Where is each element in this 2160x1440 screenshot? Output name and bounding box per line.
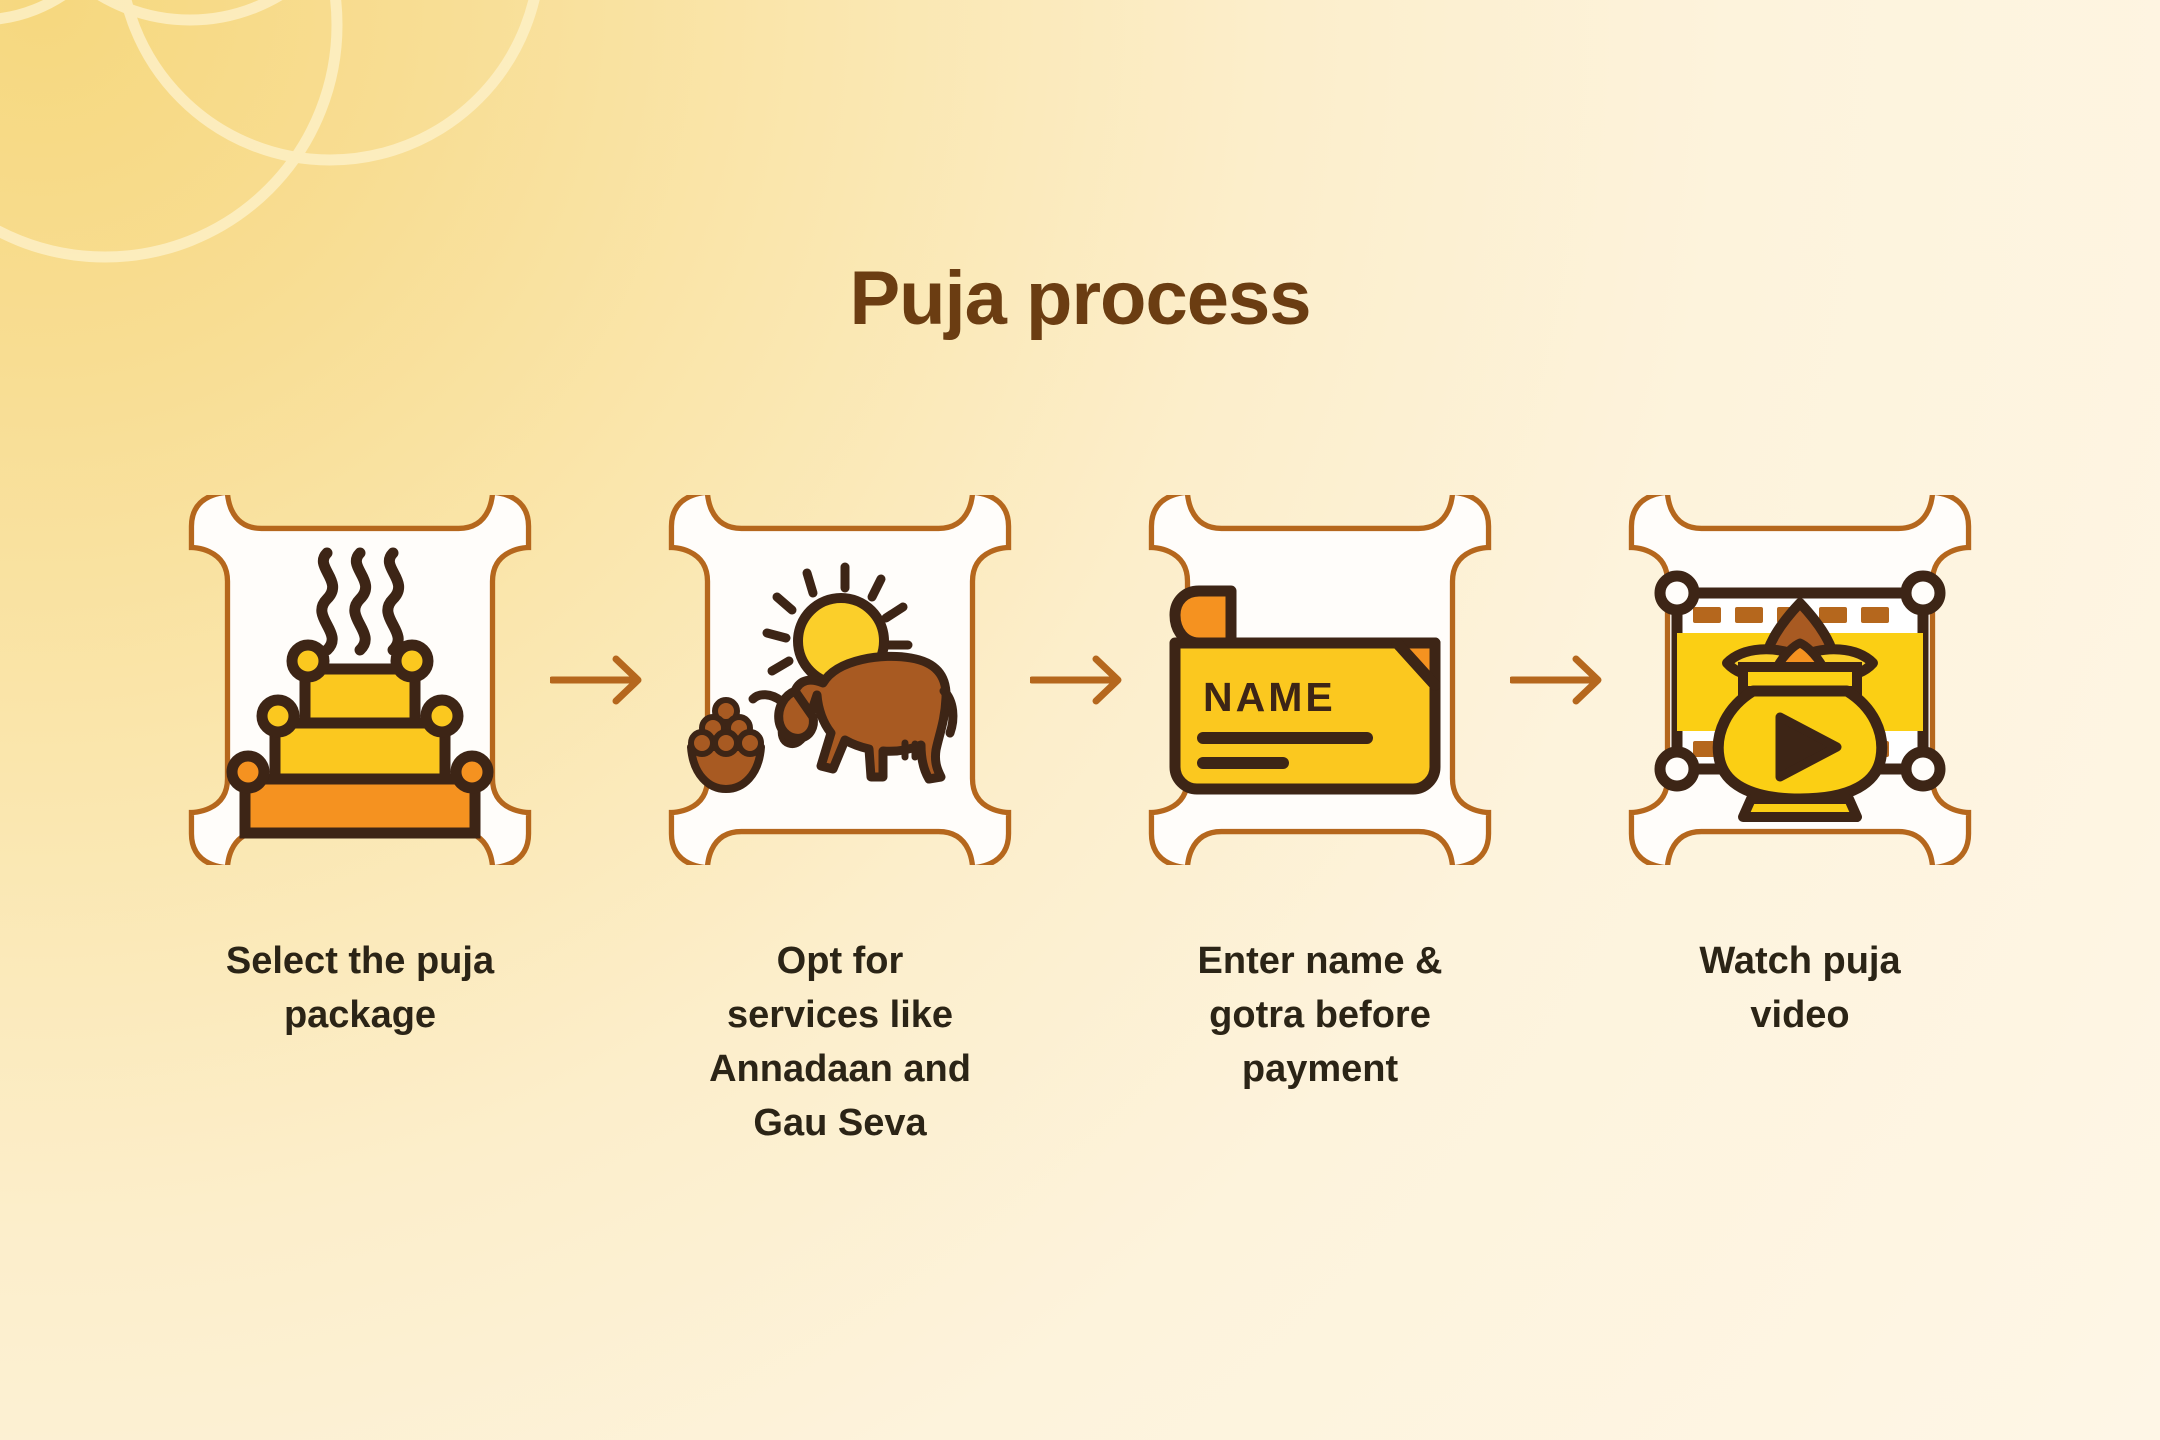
steps-row: NAME [0,495,2160,915]
label-line: Annadaan and [663,1043,1017,1097]
label-line: package [183,989,537,1043]
cow-grazing-with-sun-icon [655,495,1025,865]
puja-video-icon [1615,495,1985,865]
step-4 [1615,495,1985,865]
arrow-right-icon [1030,653,1130,707]
step-4-label: Watch puja video [1615,935,1985,1043]
step-4-card[interactable] [1615,495,1985,865]
label-line: video [1623,989,1977,1043]
label-line: Opt for [663,935,1017,989]
label-line: payment [1143,1043,1497,1097]
decorative-circles [0,0,620,430]
label-line: services like [663,989,1017,1043]
label-line: gotra before [1143,989,1497,1043]
arrow-2-to-3 [1025,495,1135,865]
label-line: Enter name & [1143,935,1497,989]
name-card-icon: NAME [1135,495,1505,865]
step-3-label: Enter name & gotra before payment [1135,935,1505,1097]
label-line: Select the puja [183,935,537,989]
step-1-card[interactable] [175,495,545,865]
page-title: Puja process [0,255,2160,342]
arrow-3-to-4 [1505,495,1615,865]
step-1 [175,495,545,865]
infographic-canvas: Puja process [0,0,2160,1440]
arrow-right-icon [550,653,650,707]
step-3-card[interactable]: NAME [1135,495,1505,865]
havan-altar-icon [175,495,545,865]
step-3: NAME [1135,495,1505,865]
step-2-label: Opt for services like Annadaan and Gau S… [655,935,1025,1151]
step-1-label: Select the puja package [175,935,545,1043]
arrow-right-icon [1510,653,1610,707]
label-line: Watch puja [1623,935,1977,989]
label-line: Gau Seva [663,1097,1017,1151]
name-card-text: NAME [1203,674,1336,720]
arrow-1-to-2 [545,495,655,865]
step-2-card[interactable] [655,495,1025,865]
step-labels-row: Select the puja package Opt for services… [0,935,2160,1195]
step-2 [655,495,1025,865]
